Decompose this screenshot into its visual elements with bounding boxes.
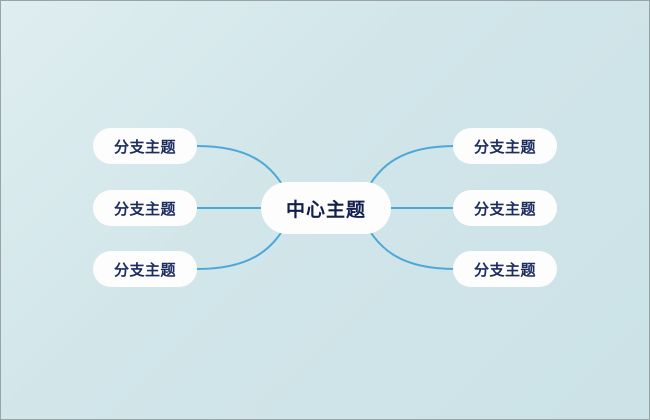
branch-node-label: 分支主题 [474,259,536,280]
branch-node-left-middle[interactable]: 分支主题 [93,190,197,226]
branch-node-label: 分支主题 [474,198,536,219]
branch-node-label: 分支主题 [114,259,176,280]
branch-node-label: 分支主题 [114,198,176,219]
branch-node-left-bottom[interactable]: 分支主题 [93,251,197,287]
center-node[interactable]: 中心主题 [261,182,391,234]
branch-node-label: 分支主题 [474,136,536,157]
branch-node-label: 分支主题 [114,136,176,157]
branch-node-right-middle[interactable]: 分支主题 [453,190,557,226]
mind-map-canvas[interactable]: 分支主题 分支主题 分支主题 中心主题 分支主题 分支主题 分支主题 [0,0,650,420]
branch-node-left-top[interactable]: 分支主题 [93,128,197,164]
branch-node-right-top[interactable]: 分支主题 [453,128,557,164]
center-node-label: 中心主题 [286,195,366,222]
branch-node-right-bottom[interactable]: 分支主题 [453,251,557,287]
